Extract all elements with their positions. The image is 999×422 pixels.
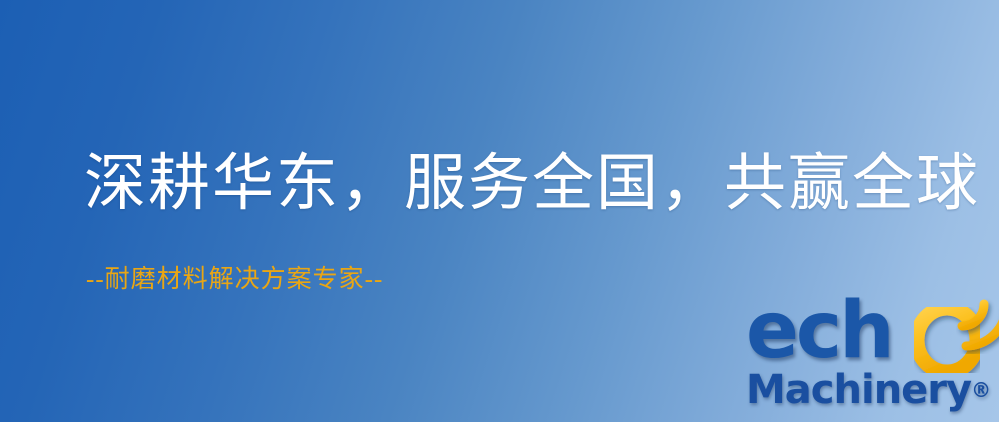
logo-machinery-label: Machinery — [746, 367, 971, 413]
logo-wordmark: ech — [744, 298, 999, 378]
registered-trademark-icon: ® — [971, 378, 991, 402]
banner-headline: 深耕华东，服务全国，共赢全球 — [84, 152, 980, 217]
hero-banner: 深耕华东，服务全国，共赢全球 --耐磨材料解决方案专家-- ech — [0, 0, 999, 422]
banner-subtitle: --耐磨材料解决方案专家-- — [86, 266, 383, 294]
logo-echo-text: ech — [746, 292, 892, 370]
echo-waves-icon — [956, 294, 999, 354]
logo-machinery-text: Machinery® — [746, 370, 991, 410]
echo-machinery-logo[interactable]: ech — [744, 298, 999, 422]
